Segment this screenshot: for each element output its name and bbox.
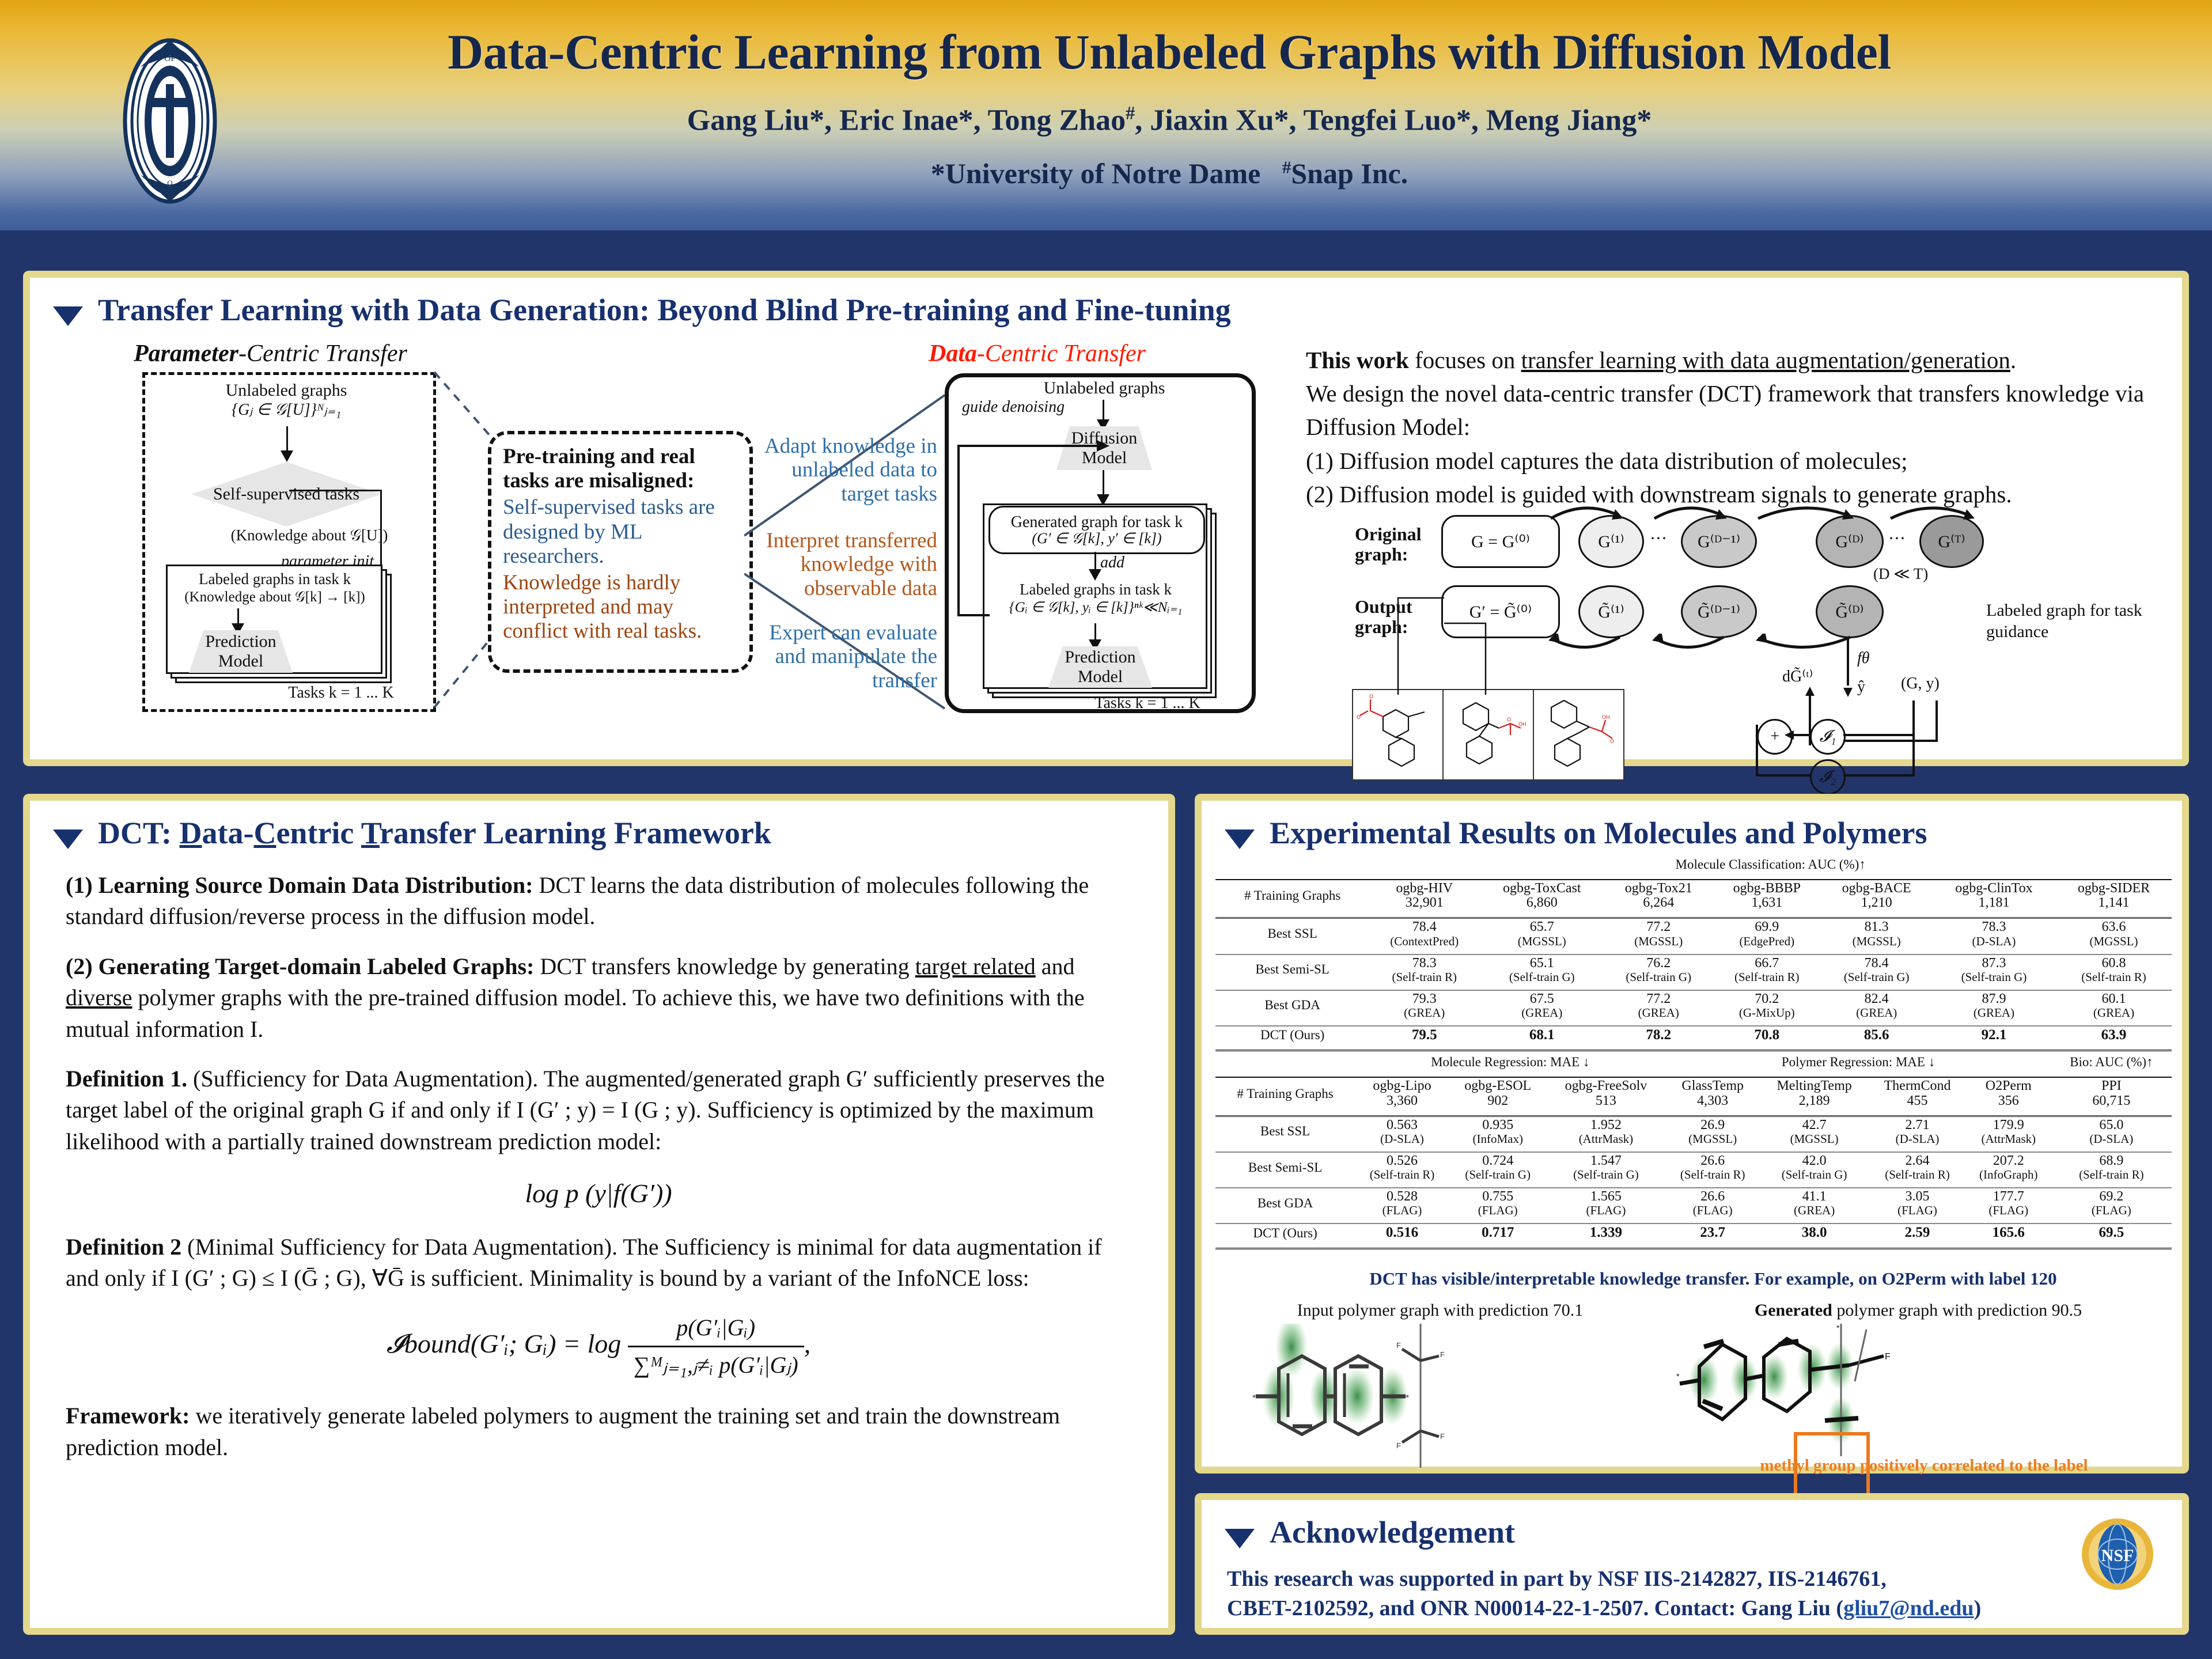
- dct-framework-rest: we iteratively generate labeled polymers…: [66, 1403, 1060, 1460]
- pc-prediction-label: Prediction Model: [189, 632, 293, 672]
- v: 68.9: [2052, 1154, 2171, 1168]
- col-n-4: 2,189: [1760, 1094, 1868, 1108]
- dct-paragraph-2: (2) Generating Target-domain Labeled Gra…: [66, 951, 1131, 1045]
- pc-param-init-line-h-top: [289, 490, 381, 491]
- cell: 26.9(MGSSL): [1665, 1116, 1760, 1146]
- col-n-5: 455: [1869, 1094, 1965, 1108]
- pc-ssl-label: Self-supervised tasks: [213, 484, 359, 505]
- col-n-2: 513: [1547, 1094, 1665, 1108]
- dct-framework-paragraph: Framework: we iteratively generate label…: [66, 1400, 1131, 1463]
- cell: 0.528(FLAG): [1355, 1188, 1449, 1218]
- table-row-dct-ours-2: DCT (Ours) 0.516 0.717 1.339 23.7 38.0 2…: [1215, 1224, 2172, 1241]
- col-name-4: ogbg-BACE: [1821, 881, 1931, 896]
- affiliation-primary: *University of Notre Dame: [931, 157, 1261, 190]
- pc-labeled-task-text: Labeled graphs in task k: [168, 570, 381, 589]
- methyl-group-note: methyl group positively correlated to th…: [1671, 1456, 2177, 1475]
- cell: 2.64(Self-train R): [1869, 1152, 1966, 1182]
- cell: 92.1: [1932, 1026, 2056, 1044]
- cell: 38.0: [1760, 1224, 1869, 1241]
- label-data-bold: Data: [929, 340, 977, 367]
- v: 2.59: [1869, 1225, 1965, 1240]
- dct-p2-a: DCT transfers knowledge by generating: [534, 953, 915, 979]
- cell: 78.4(ContextPred): [1369, 918, 1479, 949]
- molecule-structure-2-icon: O OH: [1444, 690, 1533, 779]
- panel-dct-header: DCT: Data-Centric Transfer Learning Fram…: [30, 801, 1168, 850]
- col-n-0: 32,901: [1370, 896, 1479, 910]
- panel-dct-framework: DCT: Data-Centric Transfer Learning Fram…: [23, 794, 1175, 1635]
- col-head-cell: ThermCond455: [1869, 1077, 1966, 1109]
- affiliation-line: *University of Notre Dame #Snap Inc.: [248, 157, 2091, 190]
- caption-input-polymer: Input polymer graph with prediction 70.1: [1238, 1301, 1642, 1320]
- cell: 0.526(Self-train R): [1355, 1152, 1449, 1182]
- m: (Self-train G): [1933, 971, 2055, 983]
- m: (GREA): [2056, 1006, 2171, 1019]
- label-data-rest: -Centric Transfer: [977, 340, 1146, 367]
- chain-ftheta-label: fθ: [1857, 650, 1870, 668]
- v: 78.4: [1821, 956, 1931, 971]
- col-head-cell: O2Perm356: [1966, 1077, 2051, 1109]
- col-name-0: ogbg-Lipo: [1355, 1079, 1449, 1093]
- molecule-thumbnail-2: O OH: [1442, 689, 1534, 781]
- dct-title-t1: ata-: [202, 816, 254, 850]
- dct-eq2-numerator: p(G′ᵢ|Gᵢ): [628, 1312, 804, 1347]
- m: (GREA): [1605, 1006, 1712, 1019]
- svg-text:*: *: [1836, 1324, 1840, 1332]
- v: 68.1: [1480, 1028, 1604, 1043]
- cell: 207.2(InfoGraph): [1966, 1152, 2051, 1182]
- col-n-6: 1,141: [2056, 896, 2171, 910]
- contact-email-link[interactable]: gliu7@nd.edu: [1843, 1596, 1974, 1620]
- cell: 42.0(Self-train G): [1760, 1152, 1869, 1182]
- v: 1.952: [1547, 1118, 1665, 1132]
- cell: 77.2(GREA): [1604, 990, 1713, 1020]
- table-rule-11: [1215, 1218, 2172, 1224]
- cell: 1.339: [1547, 1224, 1666, 1241]
- table-row-dct-ours: DCT (Ours) 79.5 68.1 78.2 70.8 85.6 92.1…: [1215, 1026, 2172, 1044]
- col-head-cell: ogbg-BBBP1,631: [1713, 880, 1821, 911]
- table-rule-2: [1215, 911, 2172, 918]
- svg-text:OH: OH: [1518, 721, 1527, 727]
- pc-labeled-task-label: Labeled graphs in task k (Knowledge abou…: [168, 570, 381, 605]
- dc-prediction-model-node: Prediction Model: [1048, 646, 1152, 688]
- chain-to-molecule-lines: [1352, 556, 1559, 695]
- table-header-row-regression: # Training Graphs ogbg-Lipo3,360 ogbg-ES…: [1215, 1077, 2172, 1109]
- panel-exp-header: Experimental Results on Molecules and Po…: [1202, 801, 2182, 850]
- col-n-4: 1,210: [1821, 896, 1931, 910]
- v: 0.516: [1355, 1225, 1449, 1240]
- input-polymer-graph-visualization: * * F F F F: [1250, 1324, 1630, 1468]
- m: (Self-train R): [1869, 1168, 1965, 1181]
- cell: 79.3(GREA): [1369, 990, 1479, 1020]
- m: (Self-train R): [1370, 971, 1479, 983]
- row-name-best-semi-2: Best Semi-SL: [1215, 1152, 1355, 1182]
- col-head-cell: ogbg-FreeSolv513: [1547, 1077, 1666, 1109]
- chain-ellipsis-top-2: ⋯: [1888, 529, 1906, 548]
- pc-arrow-shaft-1: [286, 426, 288, 453]
- dct-paragraph-1: (1) Learning Source Domain Data Distribu…: [66, 870, 1131, 933]
- results-interpretation-note: DCT has visible/interpretable knowledge …: [1229, 1268, 2197, 1289]
- dct-eq2-tail: ,: [804, 1329, 811, 1358]
- ack-line2-post: ): [1974, 1596, 1982, 1620]
- svg-text:*: *: [1406, 1393, 1409, 1403]
- cell: 26.6(FLAG): [1665, 1188, 1760, 1218]
- chain-node-out-2-label: G̃⁽ᴰ⁻¹⁾: [1698, 602, 1740, 622]
- cell: 63.9: [2056, 1026, 2172, 1044]
- panel-transfer-learning: Transfer Learning with Data Generation: …: [23, 271, 2189, 766]
- v: 87.3: [1933, 956, 2055, 971]
- svg-text:O: O: [1357, 714, 1361, 720]
- m: (MGSSL): [2056, 935, 2171, 948]
- m: (D-SLA): [1933, 935, 2055, 948]
- chain-node-out-1: G̃⁽¹⁾: [1578, 585, 1644, 638]
- svg-text:F: F: [1440, 1432, 1445, 1441]
- pc-ssl-knowledge-label: (Knowledge about 𝒢[U]): [197, 527, 422, 545]
- triangle-bullet-icon-exp: [1225, 829, 1255, 849]
- dct-title-pre: DCT:: [98, 816, 180, 850]
- v: 177.7: [1967, 1190, 2051, 1204]
- col-name-5: ogbg-ClinTox: [1933, 881, 2055, 896]
- v: 0.528: [1355, 1190, 1449, 1204]
- cell: 0.563(D-SLA): [1355, 1116, 1449, 1146]
- v: 0.563: [1355, 1118, 1449, 1132]
- v: 1.547: [1547, 1154, 1665, 1168]
- row-name-dct-ours: DCT (Ours): [1215, 1026, 1369, 1044]
- table-rule-10: [1215, 1182, 2172, 1188]
- dc-guide-denoising-label: guide denoising: [962, 397, 1066, 416]
- affiliation-secondary: Snap Inc.: [1291, 157, 1408, 190]
- chain-i-wiring: [1747, 700, 1965, 804]
- row-label-header-2: # Training Graphs: [1215, 1077, 1355, 1109]
- label-data-centric: Data-Centric Transfer: [929, 340, 1146, 368]
- chain-node-orig-3: G⁽ᴰ⁾: [1816, 515, 1884, 568]
- molecule-thumbnail-1: O O: [1352, 689, 1444, 781]
- chain-node-out-3: G̃⁽ᴰ⁾: [1816, 585, 1884, 638]
- chain-ellipsis-top-1: ⋯: [1650, 529, 1667, 548]
- chain-node-out-2: G̃⁽ᴰ⁻¹⁾: [1681, 585, 1757, 638]
- col-n-7: 60,715: [2052, 1094, 2171, 1108]
- m: (Self-train G): [1605, 971, 1712, 983]
- dct-p2-u1: target related: [915, 953, 1036, 979]
- col-name-3: ogbg-BBBP: [1713, 881, 1820, 896]
- work-lead-end: .: [2010, 347, 2016, 373]
- cell: 68.9(Self-train R): [2051, 1152, 2172, 1182]
- m: (Self-train R): [2056, 971, 2171, 983]
- v: 0.717: [1450, 1225, 1546, 1240]
- pc-tasks-label: Tasks k = 1 ... K: [260, 683, 422, 702]
- row-name-best-gda: Best GDA: [1215, 990, 1369, 1020]
- author-affil-marker: #: [1126, 103, 1135, 123]
- table-rule-12: [1215, 1242, 2172, 1249]
- pc-unlabeled-graphs-label: Unlabeled graphs {Gⱼ ∈ 𝒢[U]}ᴺⱼ₌₁: [162, 380, 410, 419]
- cell: 0.935(InfoMax): [1449, 1116, 1547, 1146]
- v: 26.6: [1666, 1190, 1759, 1204]
- classification-group-title: Molecule Classification: AUC (%)↑: [1369, 856, 2172, 873]
- m: (MGSSL): [1760, 1132, 1868, 1145]
- col-name-0: ogbg-HIV: [1370, 881, 1479, 896]
- row-name-best-ssl: Best SSL: [1215, 918, 1369, 949]
- v: 0.935: [1450, 1118, 1546, 1132]
- dct-title-c: C: [253, 816, 276, 850]
- generated-polymer-graph-visualization: F * *: [1676, 1324, 2080, 1468]
- results-table-classification: Molecule Classification: AUC (%)↑ # Trai…: [1215, 856, 2172, 1051]
- col-head-cell: ogbg-Lipo3,360: [1355, 1077, 1449, 1109]
- m: (FLAG): [1355, 1204, 1449, 1217]
- col-name-6: ogbg-SIDER: [2056, 881, 2171, 896]
- table-row: Best Semi-SL 78.3(Self-train R) 65.1(Sel…: [1215, 955, 2172, 984]
- work-lead-line: This work focuses on transfer learning w…: [1306, 343, 2170, 377]
- m: (Self-train R): [1355, 1168, 1449, 1181]
- cell: 69.5: [2051, 1224, 2172, 1241]
- label-parameter-bold: Parameter: [134, 340, 238, 367]
- funnel-text-interpret: Interpret transferred knowledge with obs…: [753, 529, 937, 600]
- work-lead-underline: transfer learning with data augmentation…: [1521, 347, 2010, 373]
- callout-brown-text: Knowledge is hardly interpreted and may …: [503, 571, 738, 644]
- svg-text:O: O: [1507, 717, 1511, 722]
- table-row: Best Semi-SL 0.526(Self-train R) 0.724(S…: [1215, 1152, 2172, 1182]
- v: 79.3: [1370, 992, 1479, 1006]
- m: (FLAG): [1869, 1204, 1965, 1217]
- callout-bold-text: Pre-training and real tasks are misalign…: [503, 445, 738, 493]
- cell: 2.71(D-SLA): [1869, 1116, 1966, 1146]
- m: (D-SLA): [1355, 1132, 1449, 1145]
- col-name-6: O2Perm: [1967, 1079, 2051, 1093]
- v: 3.05: [1869, 1190, 1965, 1204]
- col-name-2: ogbg-Tox21: [1605, 881, 1712, 896]
- dc-tasks-label: Tasks k = 1 ... K: [1084, 694, 1211, 713]
- results-table-regression: Molecule Regression: MAE ↓ Polymer Regre…: [1215, 1054, 2172, 1249]
- svg-text:NSF: NSF: [2101, 1546, 2134, 1565]
- col-head-cell: MeltingTemp2,189: [1760, 1077, 1869, 1109]
- cell: 65.0(D-SLA): [2051, 1116, 2172, 1146]
- v: 77.2: [1605, 992, 1712, 1006]
- caption-generated-bold: Generated: [1755, 1301, 1832, 1320]
- chain-node-out-1-label: G̃⁽¹⁾: [1598, 602, 1624, 622]
- col-head-cell: ogbg-ToxCast6,860: [1479, 880, 1604, 911]
- ack-line2-pre: CBET-2102592, and ONR N00014-22-1-2507. …: [1227, 1596, 1843, 1620]
- v: 0.724: [1450, 1154, 1546, 1168]
- panel-ack-title: Acknowledgement: [1270, 1515, 1515, 1550]
- triangle-bullet-icon: [53, 306, 83, 326]
- v: 69.5: [2052, 1225, 2171, 1240]
- v: 0.526: [1355, 1154, 1449, 1168]
- col-n-6: 356: [1967, 1094, 2051, 1108]
- dct-p2-c: polymer graphs with the pre-trained diff…: [66, 984, 1085, 1041]
- col-n-0: 3,360: [1355, 1094, 1449, 1108]
- dct-title-t3: T: [361, 816, 380, 850]
- results-tables-wrap: Molecule Classification: AUC (%)↑ # Trai…: [1215, 856, 2180, 1249]
- m: (GREA): [1821, 1006, 1931, 1019]
- chain-node-orig-3-label: G⁽ᴰ⁾: [1835, 532, 1863, 552]
- svg-text:OF: OF: [164, 54, 175, 63]
- dct-def1-rest: (Sufficiency for Data Augmentation). The…: [66, 1066, 1105, 1154]
- header-divider: [0, 230, 2212, 265]
- m: (Self-train R): [2052, 1168, 2171, 1181]
- v: 81.3: [1821, 920, 1931, 934]
- cell: 3.05(FLAG): [1869, 1188, 1966, 1218]
- table-rule-7: [1215, 1071, 2172, 1077]
- caption-generated-polymer: Generated polymer graph with prediction …: [1671, 1301, 2166, 1320]
- m: (FLAG): [2052, 1204, 2171, 1217]
- m: (InfoGraph): [1967, 1168, 2051, 1181]
- cell: 23.7: [1665, 1224, 1760, 1241]
- dct-def1-bold: Definition 1.: [66, 1066, 187, 1092]
- col-name-2: ogbg-FreeSolv: [1547, 1079, 1665, 1093]
- m: (AttrMask): [1547, 1132, 1665, 1145]
- pc-to-callout-connector: [433, 368, 497, 713]
- regression-group-title-molecule: Molecule Regression: MAE ↓: [1355, 1054, 1665, 1071]
- cell: 82.4(GREA): [1821, 990, 1931, 1020]
- chain-node-orig-4-label: G⁽ᵀ⁾: [1938, 532, 1965, 552]
- m: (FLAG): [1967, 1204, 2051, 1217]
- cell: 0.724(Self-train G): [1449, 1152, 1547, 1182]
- dct-eq2-fraction: p(G′ᵢ|Gᵢ) ∑ᴹⱼ₌₁,ⱼ≠ᵢ p(G′ᵢ|Gⱼ): [628, 1312, 804, 1381]
- cell: 79.5: [1369, 1026, 1479, 1044]
- panel-experimental-results: Experimental Results on Molecules and Po…: [1195, 794, 2189, 1474]
- table-group-title-row-2: Molecule Regression: MAE ↓ Polymer Regre…: [1215, 1054, 2172, 1071]
- cell: 87.3(Self-train G): [1932, 955, 2056, 984]
- dct-equation-1: log p (y|f(G′)): [66, 1176, 1131, 1212]
- work-line2: We design the novel data-centric transfe…: [1306, 377, 2170, 444]
- v: 63.6: [2056, 920, 2171, 934]
- col-n-3: 1,631: [1713, 896, 1820, 910]
- dct-def2-bold: Definition 2: [66, 1234, 181, 1260]
- label-parameter-rest: -Centric Transfer: [238, 340, 407, 367]
- chain-dt-note: (D ≪ T): [1873, 566, 1928, 583]
- cell: 77.2(MGSSL): [1604, 918, 1713, 949]
- cell: 69.2(FLAG): [2051, 1188, 2172, 1218]
- dc-prediction-label: Prediction Model: [1048, 647, 1152, 687]
- svg-text:*: *: [1676, 1372, 1680, 1381]
- svg-text:F: F: [1440, 1350, 1445, 1359]
- chain-node-orig-1-label: G⁽¹⁾: [1598, 532, 1624, 552]
- m: (G-MixUp): [1713, 1006, 1820, 1019]
- dc-unlabeled-graphs-label: Unlabeled graphs: [980, 378, 1228, 398]
- col-head-cell: ogbg-HIV32,901: [1369, 880, 1479, 911]
- table-rule-8: [1215, 1109, 2172, 1116]
- chain-node-orig-4: G⁽ᵀ⁾: [1919, 515, 1984, 568]
- col-n-1: 6,860: [1480, 896, 1604, 910]
- table-row: Best GDA 79.3(GREA) 67.5(GREA) 77.2(GREA…: [1215, 990, 2172, 1020]
- svg-text:O: O: [1610, 738, 1614, 744]
- m: (Self-train G): [1760, 1168, 1868, 1181]
- m: (EdgePred): [1713, 935, 1820, 948]
- work-lead-bold: This work: [1306, 347, 1409, 373]
- pc-arrow-head-1: [281, 450, 293, 462]
- pc-labeled-knowledge-text: (Knowledge about 𝒢[k] → 𝒨[k]): [168, 589, 381, 606]
- col-head-cell: ogbg-Tox216,264: [1604, 880, 1713, 911]
- regression-group-title-polymer: Polymer Regression: MAE ↓: [1665, 1054, 2051, 1071]
- cell: 70.2(G-MixUp): [1713, 990, 1821, 1020]
- m: (Self-train R): [1666, 1168, 1759, 1181]
- m: (ContextPred): [1370, 935, 1479, 948]
- v: 26.6: [1666, 1154, 1759, 1168]
- row-name-best-gda-2: Best GDA: [1215, 1188, 1355, 1218]
- diffusion-chain-diagram: Original graph: Output graph: G = G⁽⁰⁾ G…: [1355, 499, 2190, 758]
- cell: 60.8(Self-train R): [2056, 955, 2172, 984]
- authors-post: , Jiaxin Xu*, Tengfei Luo*, Meng Jiang*: [1135, 104, 1652, 137]
- col-name-1: ogbg-ESOL: [1450, 1079, 1546, 1093]
- m: (AttrMask): [1967, 1132, 2051, 1145]
- row-name-dct-ours-2: DCT (Ours): [1215, 1224, 1355, 1241]
- dct-title-t2: entric: [276, 816, 361, 850]
- dct-eq2-denominator: ∑ᴹⱼ₌₁,ⱼ≠ᵢ p(G′ᵢ|Gⱼ): [628, 1347, 804, 1381]
- cell: 76.2(Self-train G): [1604, 955, 1713, 984]
- v: 78.3: [1933, 920, 2055, 934]
- table-rule-6: [1215, 1044, 2172, 1051]
- chain-node-orig-2-label: G⁽ᴰ⁻¹⁾: [1698, 532, 1740, 552]
- cell: 1.547(Self-train G): [1547, 1152, 1666, 1182]
- cell: 26.6(Self-train R): [1665, 1152, 1760, 1182]
- row-label-header-1: # Training Graphs: [1215, 880, 1369, 911]
- pc-unlabeled-math: {Gⱼ ∈ 𝒢[U]}ᴺⱼ₌₁: [162, 400, 410, 419]
- cell: 66.7(Self-train R): [1713, 955, 1821, 984]
- m: (GREA): [1933, 1006, 2055, 1019]
- cell: 0.516: [1355, 1224, 1449, 1241]
- m: (GREA): [1370, 1006, 1479, 1019]
- v: 2.64: [1869, 1154, 1965, 1168]
- svg-text:F: F: [1396, 1441, 1401, 1450]
- m: (InfoMax): [1450, 1132, 1546, 1145]
- dct-def2-rest: (Minimal Sufficiency for Data Augmentati…: [66, 1234, 1102, 1291]
- v: 70.8: [1713, 1028, 1820, 1043]
- table-rule-9: [1215, 1146, 2172, 1152]
- col-head-cell: GlassTemp4,303: [1665, 1077, 1760, 1109]
- v: 42.7: [1760, 1118, 1868, 1132]
- m: (MGSSL): [1666, 1132, 1759, 1145]
- dct-definition-2: Definition 2 (Minimal Sufficiency for Da…: [66, 1232, 1131, 1294]
- dct-p2-u2: diverse: [66, 984, 132, 1010]
- v: 79.5: [1370, 1028, 1479, 1043]
- m: (Self-train G): [1450, 1168, 1546, 1181]
- v: 87.9: [1933, 992, 2055, 1006]
- v: 60.1: [2056, 992, 2171, 1006]
- callout-misalignment: Pre-training and real tasks are misalign…: [488, 431, 753, 673]
- regression-group-title-bio: Bio: AUC (%)↑: [2051, 1054, 2172, 1071]
- col-name-3: GlassTemp: [1666, 1079, 1759, 1093]
- v: 2.71: [1869, 1118, 1965, 1132]
- cell: 1.952(AttrMask): [1547, 1116, 1666, 1146]
- panel-acknowledgement: Acknowledgement This research was suppor…: [1195, 1493, 2189, 1635]
- v: 207.2: [1967, 1154, 2051, 1168]
- v: 69.2: [2052, 1190, 2171, 1204]
- triangle-bullet-icon-ack: [1225, 1529, 1255, 1548]
- v: 65.7: [1480, 920, 1604, 934]
- cell: 69.9(EdgePred): [1713, 918, 1821, 949]
- col-n-2: 6,264: [1605, 896, 1712, 910]
- authors-pre: Gang Liu*, Eric Inae*, Tong Zhao: [687, 104, 1126, 137]
- chain-dg-label: dG̃⁽ᵗ⁾: [1782, 668, 1813, 686]
- col-name-7: PPI: [2052, 1079, 2171, 1093]
- cell: 67.5(GREA): [1479, 990, 1604, 1020]
- col-name-4: MeltingTemp: [1760, 1079, 1868, 1093]
- m: (FLAG): [1666, 1204, 1759, 1217]
- m: (Self-train G): [1821, 971, 1931, 983]
- col-n-3: 4,303: [1666, 1094, 1759, 1108]
- table-rule-3: [1215, 949, 2172, 955]
- molecule-structure-3-icon: OH O: [1534, 690, 1623, 779]
- acknowledgement-text: This research was supported in part by N…: [1227, 1565, 2080, 1624]
- dct-p2-bold: (2) Generating Target-domain Labeled Gra…: [66, 953, 534, 979]
- chain-node-orig-0-label: G = G⁽⁰⁾: [1471, 532, 1530, 552]
- svg-text:OH: OH: [1602, 714, 1610, 720]
- v: 69.9: [1713, 920, 1820, 934]
- table-header-row-classification: # Training Graphs ogbg-HIV32,901 ogbg-To…: [1215, 880, 2172, 911]
- cell: 85.6: [1821, 1026, 1931, 1044]
- m: (FLAG): [1450, 1204, 1546, 1217]
- panel-transfer-body: Parameter-Centric Transfer Data-Centric …: [30, 333, 2182, 766]
- pc-unlabeled-text: Unlabeled graphs: [162, 380, 410, 400]
- chain-forward-arrows: [1435, 499, 2012, 522]
